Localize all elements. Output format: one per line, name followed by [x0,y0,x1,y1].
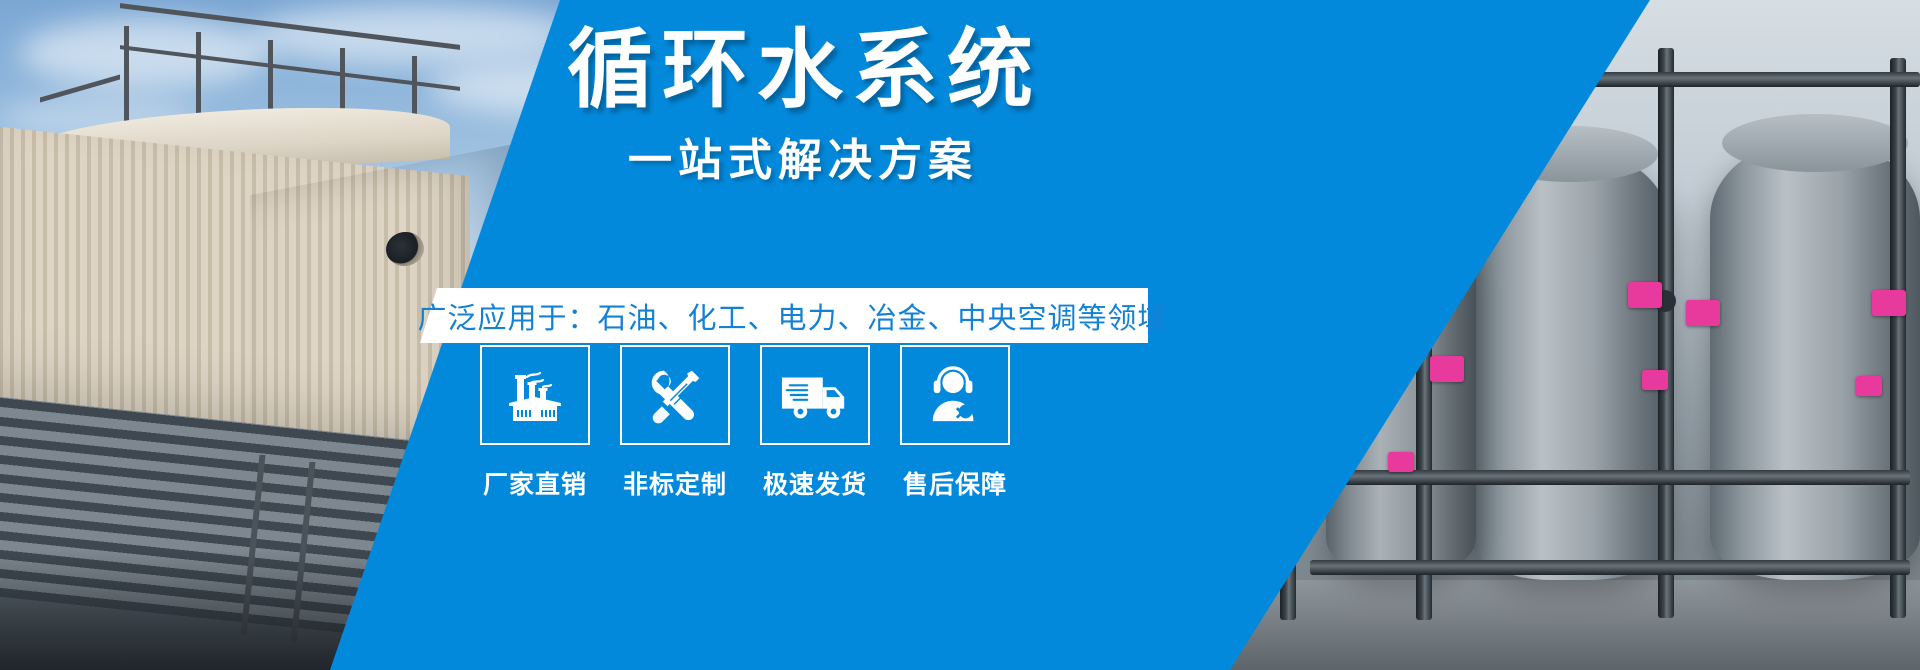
hero-title-block: 循环水系统 一站式解决方案 [430,22,1170,188]
feature-label-customization: 非标定制 [620,465,730,501]
feature-list: 厂家直销 非标定制 极速发货 售后保障 [480,345,1100,501]
promo-banner: 广泛应用于：石油、化工、电力、冶金、中央空调等领域 循环水系统 一站式解决方案 [0,0,1920,670]
feature-label-support: 售后保障 [900,465,1010,501]
feature-label-row: 厂家直销 非标定制 极速发货 售后保障 [480,465,1100,501]
feature-icon-row [480,345,1100,445]
feature-item-customization[interactable] [620,345,730,445]
feature-item-support[interactable] [900,345,1010,445]
application-text: 广泛应用于：石油、化工、电力、冶金、中央空调等领域 [437,288,1148,343]
page-subtitle: 一站式解决方案 [430,124,1170,188]
delivery-truck-icon [780,369,850,421]
headset-support-icon [926,365,984,425]
feature-item-shipping[interactable] [760,345,870,445]
feature-label-shipping: 极速发货 [760,465,870,501]
feature-item-factory[interactable] [480,345,590,445]
wrench-screwdriver-icon [644,365,706,425]
factory-icon [503,365,567,425]
page-title: 循环水系统 [430,22,1170,118]
feature-label-factory: 厂家直销 [480,465,590,501]
